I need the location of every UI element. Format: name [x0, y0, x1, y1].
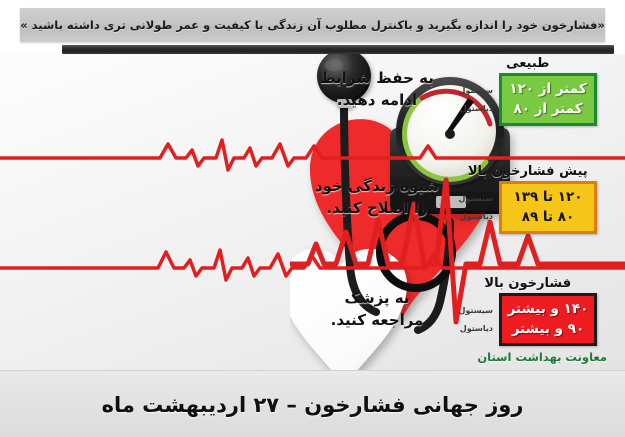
- value-box-normal: کمتر از ۱۲۰ کمتر از ۸۰: [499, 73, 597, 126]
- advice-normal-line2: ادامه دهید.: [317, 90, 437, 112]
- bottom-banner: روز جهانی فشارخون – ۲۷ اردیبهشت ماه: [0, 370, 625, 437]
- infographic-poster: «فشارخون خود را اندازه بگیرید و باکنترل …: [0, 0, 625, 437]
- diastolic-value-hypertension: ۹۰ و بیشتر: [512, 319, 585, 339]
- campaign-title: روز جهانی فشارخون – ۲۷ اردیبهشت ماه: [102, 393, 524, 417]
- side-labels-prehypertension: سیستول دیاستول: [459, 181, 500, 234]
- advice-prehypertension: شیوه زندگی خود را اصلاح کنید.: [307, 176, 447, 220]
- organization-credit: معاونت بهداشت استان: [477, 350, 607, 364]
- decorative-rail: [62, 45, 614, 54]
- category-row-normal: کمتر از ۱۲۰ کمتر از ۸۰ سیستول دیاستول: [459, 73, 598, 126]
- category-block-hypertension: فشارخون بالا ۱۴۰ و بیشتر ۹۰ و بیشتر سیست…: [459, 276, 598, 346]
- main-canvas: طبیعی کمتر از ۱۲۰ کمتر از ۸۰ سیستول دیاس…: [0, 54, 625, 370]
- category-row-hypertension: ۱۴۰ و بیشتر ۹۰ و بیشتر سیستول دیاستول: [459, 293, 598, 346]
- systolic-label-normal: سیستول: [459, 86, 494, 95]
- systolic-label-hypertension: سیستول: [459, 306, 494, 315]
- advice-prehypertension-line1: شیوه زندگی خود: [307, 176, 447, 198]
- category-row-prehypertension: ۱۲۰ تا ۱۳۹ ۸۰ تا ۸۹ سیستول دیاستول: [459, 181, 598, 234]
- diastolic-value-normal: کمتر از ۸۰: [513, 99, 582, 119]
- value-box-hypertension: ۱۴۰ و بیشتر ۹۰ و بیشتر: [499, 293, 597, 346]
- slogan-text: «فشارخون خود را اندازه بگیرید و باکنترل …: [20, 18, 605, 32]
- category-block-prehypertension: پیش فشارخون بالا ۱۲۰ تا ۱۳۹ ۸۰ تا ۸۹ سیس…: [459, 164, 598, 234]
- advice-normal-line1: به حفظ شرایط: [317, 68, 437, 90]
- diastolic-label-prehypertension: دیاستول: [460, 212, 493, 221]
- advice-hypertension: به پزشک مراجعه کنید.: [317, 288, 437, 332]
- category-title-hypertension: فشارخون بالا: [459, 276, 598, 291]
- top-banner: «فشارخون خود را اندازه بگیرید و باکنترل …: [20, 8, 605, 42]
- diastolic-label-normal: دیاستول: [460, 104, 493, 113]
- systolic-value-normal: کمتر از ۱۲۰: [509, 79, 586, 99]
- systolic-value-hypertension: ۱۴۰ و بیشتر: [508, 299, 589, 319]
- advice-prehypertension-line2: را اصلاح کنید.: [307, 198, 447, 220]
- systolic-label-prehypertension: سیستول: [459, 194, 494, 203]
- category-title-normal: طبیعی: [459, 56, 598, 71]
- side-labels-normal: سیستول دیاستول: [459, 73, 500, 126]
- category-block-normal: طبیعی کمتر از ۱۲۰ کمتر از ۸۰ سیستول دیاس…: [459, 56, 598, 126]
- advice-hypertension-line2: مراجعه کنید.: [317, 310, 437, 332]
- side-labels-hypertension: سیستول دیاستول: [459, 293, 500, 346]
- diastolic-label-hypertension: دیاستول: [460, 324, 493, 333]
- systolic-value-prehypertension: ۱۲۰ تا ۱۳۹: [514, 187, 583, 207]
- advice-hypertension-line1: به پزشک: [317, 288, 437, 310]
- diastolic-value-prehypertension: ۸۰ تا ۸۹: [522, 207, 575, 227]
- advice-normal: به حفظ شرایط ادامه دهید.: [317, 68, 437, 112]
- category-title-prehypertension: پیش فشارخون بالا: [459, 164, 598, 179]
- value-box-prehypertension: ۱۲۰ تا ۱۳۹ ۸۰ تا ۸۹: [499, 181, 597, 234]
